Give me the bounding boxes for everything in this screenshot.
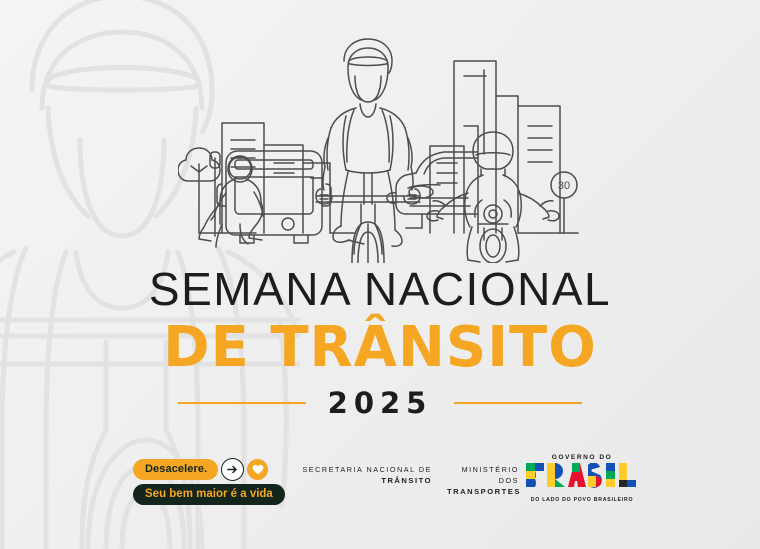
heart-circle-icon — [247, 459, 268, 480]
title-line-2: DE TRÂNSITO — [0, 315, 760, 380]
senatran-line-1: SECRETARIA NACIONAL DE — [300, 464, 432, 475]
governo-top-label: GOVERNO DO — [524, 454, 640, 461]
buildings-left-icon — [222, 123, 330, 233]
slogan-line-1: Desacelere. — [133, 459, 218, 480]
senatran-line-2: TRÂNSITO — [300, 475, 432, 486]
slogan-lockup: Desacelere. Seu bem maior é a vida — [133, 458, 285, 505]
speed-limit-value: 30 — [558, 180, 570, 192]
poster-canvas: 30 SEMANA NACIONAL DE TRÂNSITO 2025 Desa… — [0, 0, 760, 549]
senatran-lockup: SECRETARIA NACIONAL DE TRÂNSITO — [300, 464, 432, 486]
year-row: 2025 — [0, 386, 760, 420]
slogan-top-row: Desacelere. — [133, 458, 285, 481]
footer: Desacelere. Seu bem maior é a vida SECRE… — [0, 450, 760, 510]
governo-brasil-logo: GOVERNO DO — [524, 454, 640, 503]
ministerio-line-1: MINISTÉRIO DOS — [447, 464, 519, 486]
ministerio-lockup: MINISTÉRIO DOS TRANSPORTES — [447, 464, 519, 497]
slogan-line-2: Seu bem maior é a vida — [133, 484, 285, 505]
arrow-right-circle-icon — [221, 458, 244, 481]
year-label: 2025 — [328, 386, 433, 420]
traffic-illustration: 30 — [178, 28, 598, 263]
title-line-1: SEMANA NACIONAL — [0, 262, 760, 316]
ministerio-line-2: TRANSPORTES — [447, 486, 519, 497]
buildings-right-icon — [430, 61, 560, 233]
year-rule-right — [454, 402, 582, 404]
governo-tagline: DO LADO DO POVO BRASILEIRO — [524, 497, 640, 503]
speed-limit-sign-icon: 30 — [518, 172, 578, 233]
bus-icon — [217, 151, 331, 243]
year-rule-left — [178, 402, 306, 404]
brasil-wordmark-icon — [524, 463, 640, 495]
cyclist-icon — [316, 39, 420, 263]
